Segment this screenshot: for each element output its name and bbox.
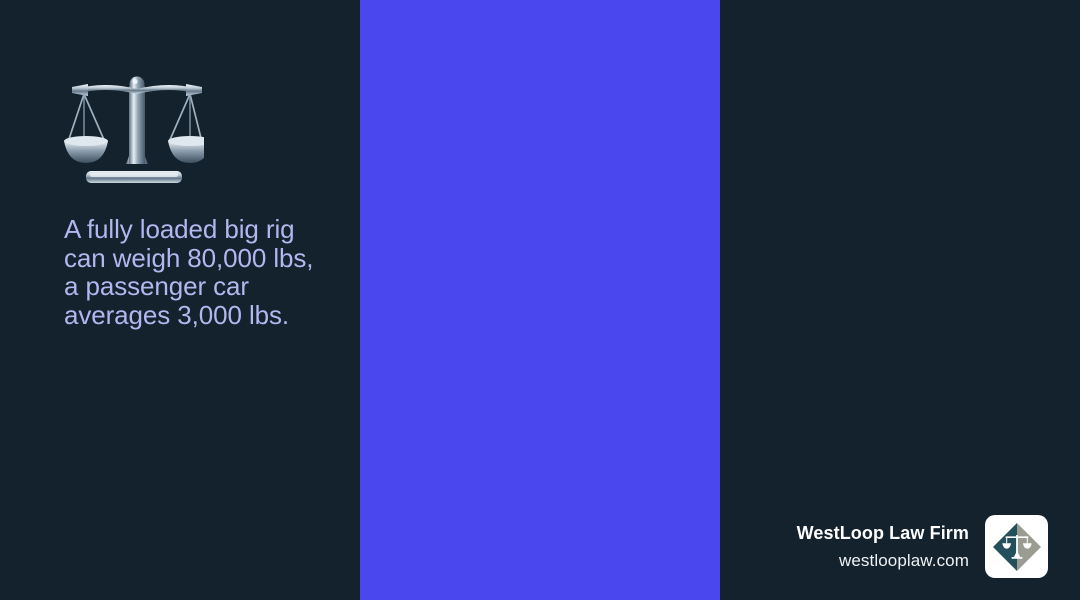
fact-panel-fatalities: 97% of fatalities in truck-car collision… bbox=[360, 0, 720, 600]
westloop-scales-logo[interactable] bbox=[985, 515, 1048, 578]
infographic-canvas: A fully loaded big rig can weigh 80,000 … bbox=[0, 0, 1080, 600]
brand-text-block: WestLoop Law Firm westlooplaw.com bbox=[797, 523, 969, 571]
fact-panel-stopping-distance: At 65 mph, a truck requires 525 ft to st… bbox=[720, 0, 1080, 600]
fact-text-weight: A fully loaded big rig can weigh 80,000 … bbox=[64, 215, 314, 329]
balance-scales-icon bbox=[64, 60, 204, 190]
fact-panel-weight: A fully loaded big rig can weigh 80,000 … bbox=[0, 0, 360, 600]
brand-name: WestLoop Law Firm bbox=[797, 523, 969, 544]
brand-footer[interactable]: WestLoop Law Firm westlooplaw.com bbox=[797, 515, 1048, 578]
brand-website-url[interactable]: westlooplaw.com bbox=[797, 551, 969, 571]
